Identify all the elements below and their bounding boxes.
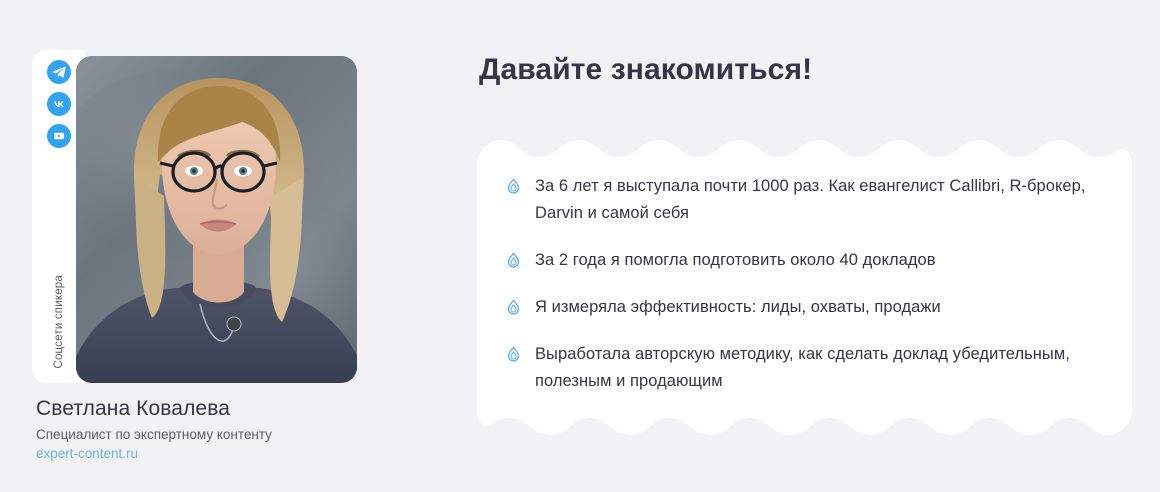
youtube-icon[interactable] [47, 124, 71, 148]
list-item: Я измеряла эффективность: лиды, охваты, … [505, 294, 1125, 321]
bullet-text: За 2 года я помогла подготовить около 40… [535, 247, 936, 274]
speaker-portrait-photo [76, 56, 357, 383]
speaker-photo-block: Соцсети спикера [33, 50, 357, 383]
droplet-icon [505, 250, 521, 270]
bullets-card: За 6 лет я выступала почти 1000 раз. Как… [477, 135, 1132, 440]
bullet-text: За 6 лет я выступала почти 1000 раз. Как… [535, 173, 1125, 227]
bullet-text: Я измеряла эффективность: лиды, охваты, … [535, 294, 941, 321]
list-item: Выработала авторскую методику, как сдела… [505, 341, 1125, 395]
bullet-text: Выработала авторскую методику, как сдела… [535, 341, 1125, 395]
list-item: За 6 лет я выступала почти 1000 раз. Как… [505, 173, 1125, 227]
speaker-website-link[interactable]: expert-content.ru [36, 445, 138, 463]
droplet-icon [505, 176, 521, 196]
page-title: Давайте знакомиться! [479, 50, 812, 90]
list-item: За 2 года я помогла подготовить около 40… [505, 247, 1125, 274]
speaker-role: Специалист по экспертному контенту [36, 426, 456, 444]
bullet-list: За 6 лет я выступала почти 1000 раз. Как… [505, 173, 1125, 395]
droplet-icon [505, 297, 521, 317]
vk-icon[interactable] [47, 92, 71, 116]
droplet-icon [505, 344, 521, 364]
telegram-icon[interactable] [47, 60, 71, 84]
speaker-meta: Светлана Ковалева Специалист по экспертн… [36, 396, 456, 463]
presentation-slide: Соцсети спикера [0, 0, 1160, 492]
speaker-name: Светлана Ковалева [36, 396, 456, 422]
